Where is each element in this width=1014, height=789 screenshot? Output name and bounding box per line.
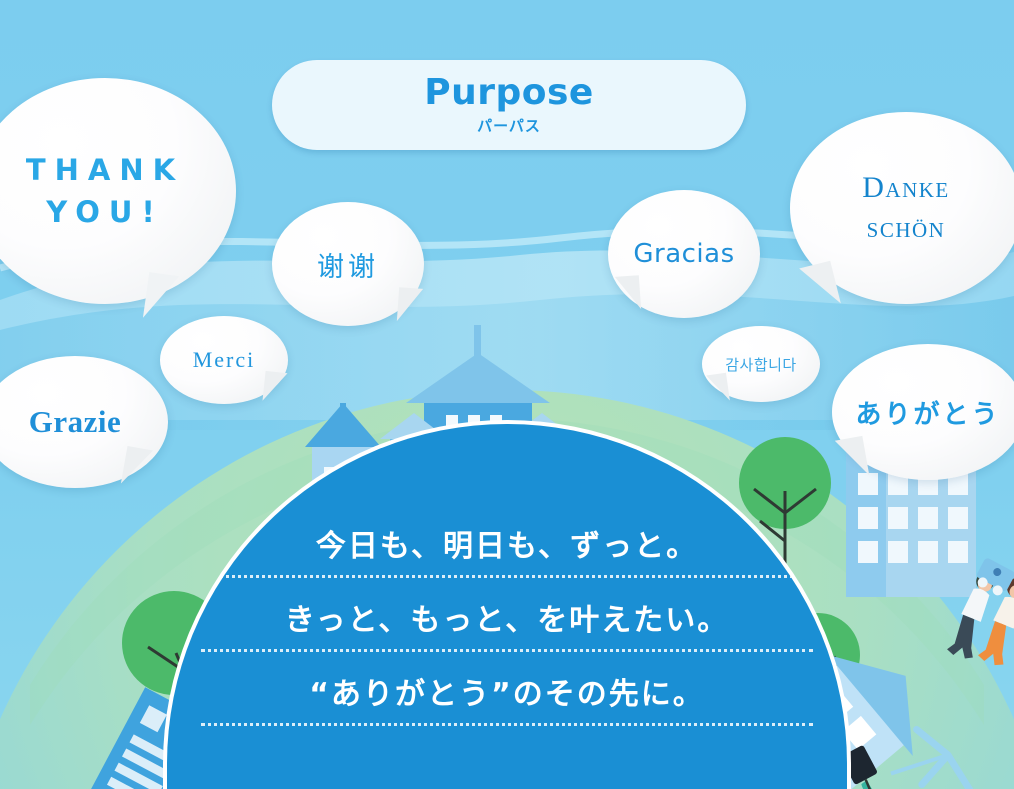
- bubble-text-danke-schoen: Dankeschön: [854, 168, 958, 249]
- dome-line-3: “ありがとう”のその先に。: [201, 678, 813, 726]
- dome-line-2: きっと、もっと、を叶えたい。: [201, 604, 813, 652]
- bubble-tail-icon: [262, 371, 287, 403]
- page-title: Purpose: [424, 75, 594, 111]
- bubble-text-grazie: Grazie: [21, 404, 130, 440]
- dome-message-block: 今日も、明日も、ずっと。 きっと、もっと、を叶えたい。 “ありがとう”のその先に…: [167, 530, 847, 726]
- speech-bubble-korean: 감사합니다: [702, 326, 820, 402]
- poster-canvas: 今日も、明日も、ずっと。 きっと、もっと、を叶えたい。 “ありがとう”のその先に…: [0, 0, 1014, 789]
- bubble-tail-icon: [143, 272, 179, 322]
- speech-bubble-arigatou: ありがとう: [832, 344, 1014, 480]
- speech-bubble-gracias: Gracias: [608, 190, 760, 318]
- dome-line-1: 今日も、明日も、ずっと。: [201, 530, 813, 578]
- bubble-tail-icon: [706, 373, 730, 404]
- bubble-text-korean: 감사합니다: [717, 354, 805, 375]
- bubble-tail-icon: [835, 436, 870, 480]
- bubble-text-gracias: Gracias: [625, 239, 742, 269]
- speech-bubble-merci: Merci: [160, 316, 288, 404]
- speech-bubble-xiexie: 谢谢: [272, 202, 424, 326]
- purpose-title-pill: Purpose パーパス: [272, 60, 746, 150]
- speech-bubble-danke-schoen: Dankeschön: [790, 112, 1014, 304]
- bubble-text-thank-you: THANKYOU!: [18, 149, 192, 233]
- bubble-text-merci: Merci: [185, 347, 264, 373]
- page-subtitle: パーパス: [477, 115, 541, 136]
- bubble-text-xiexie: 谢谢: [309, 245, 387, 284]
- bubble-tail-icon: [397, 287, 423, 323]
- bubble-text-arigatou: ありがとう: [847, 394, 1008, 431]
- bubble-tail-icon: [615, 275, 641, 311]
